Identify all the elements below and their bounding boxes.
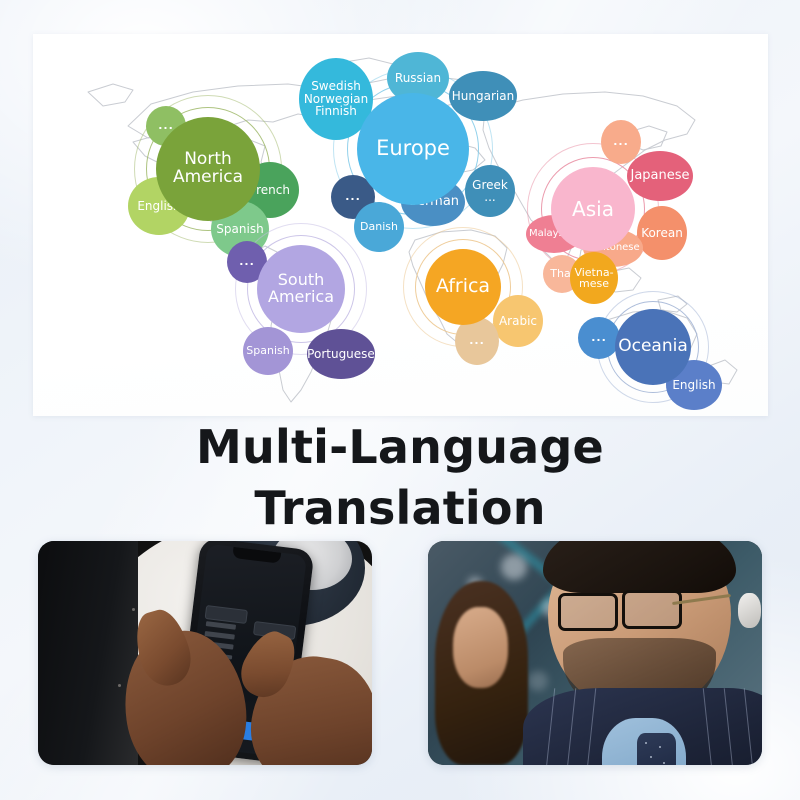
language-bubble-label: ... [613, 136, 629, 147]
photo-left-shadow [38, 541, 138, 765]
language-bubble-af-arabic[interactable]: Arabic [493, 295, 543, 347]
language-bubble-label: Hungarian [452, 90, 514, 102]
language-bubble-label: ... [345, 191, 361, 202]
person-tie [637, 733, 677, 765]
page-title: Multi-Language Translation [0, 418, 800, 540]
language-bubble-oc-more[interactable]: ... [578, 317, 620, 359]
background-person [435, 581, 529, 765]
language-bubble-label: ... [239, 256, 255, 267]
region-bubble-north-america[interactable]: North America [156, 117, 260, 221]
language-bubble-eu-hungarian[interactable]: Hungarian [449, 71, 517, 121]
language-bubble-as-japanese[interactable]: Japanese [627, 151, 693, 201]
region-bubble-africa[interactable]: Africa [425, 249, 501, 325]
region-bubble-europe[interactable]: Europe [357, 93, 469, 205]
region-bubble-label: Oceania [618, 338, 688, 356]
language-bubble-sa-spanish[interactable]: Spanish [243, 327, 293, 375]
language-bubble-eu-greek[interactable]: Greek ... [465, 165, 515, 217]
language-bubble-label: ... [469, 335, 485, 346]
person-hair [543, 541, 736, 593]
page-title-line-2: Translation [0, 476, 800, 540]
language-bubble-as-vietnamese[interactable]: Vietna- mese [570, 252, 618, 304]
world-map-panel: ...EnglishFrenchSpanishNorth AmericaSwed… [33, 34, 768, 416]
language-bubble-label: Portuguese [307, 348, 375, 360]
photo-hand-phone-translation-app [38, 541, 372, 765]
region-bubble-label: Europe [376, 138, 450, 160]
eyeglasses-right-lens [622, 590, 682, 629]
language-bubble-label: ... [158, 120, 174, 131]
region-bubble-label: North America [156, 151, 260, 186]
language-bubble-label: Arabic [499, 315, 537, 327]
language-bubble-label: ... [591, 332, 607, 343]
language-bubble-label: Russian [395, 72, 441, 84]
photo-man-glasses-earbud [428, 541, 762, 765]
language-bubble-label: Greek ... [465, 179, 515, 204]
region-bubble-oceania[interactable]: Oceania [615, 309, 691, 385]
language-bubble-label: Spanish [216, 223, 263, 235]
language-bubble-as-korean[interactable]: Korean [637, 206, 687, 260]
language-bubble-eu-danish[interactable]: Danish [354, 202, 404, 252]
language-bubble-label: English [672, 379, 715, 391]
language-bubble-label: Japanese [630, 169, 689, 183]
language-bubble-label: Spanish [246, 345, 289, 356]
language-bubble-label: Vietna- mese [570, 267, 618, 290]
region-bubble-asia[interactable]: Asia [551, 167, 635, 251]
region-bubble-label: Africa [436, 277, 490, 297]
region-bubble-label: Asia [572, 199, 614, 220]
region-bubble-label: South America [257, 272, 345, 305]
wireless-earbud [738, 593, 760, 628]
language-bubble-as-more[interactable]: ... [601, 120, 641, 164]
phone-notch [232, 548, 281, 564]
language-bubble-label: Swedish Norwegian Finnish [299, 80, 373, 117]
language-bubble-label: Danish [360, 221, 398, 232]
region-bubble-south-america[interactable]: South America [257, 245, 345, 333]
foreground-person [528, 541, 762, 765]
eyeglasses-left-lens [558, 593, 618, 632]
language-bubble-sa-portuguese[interactable]: Portuguese [307, 329, 375, 379]
language-bubble-label: Korean [641, 227, 683, 239]
page-title-line-1: Multi-Language [0, 418, 800, 476]
